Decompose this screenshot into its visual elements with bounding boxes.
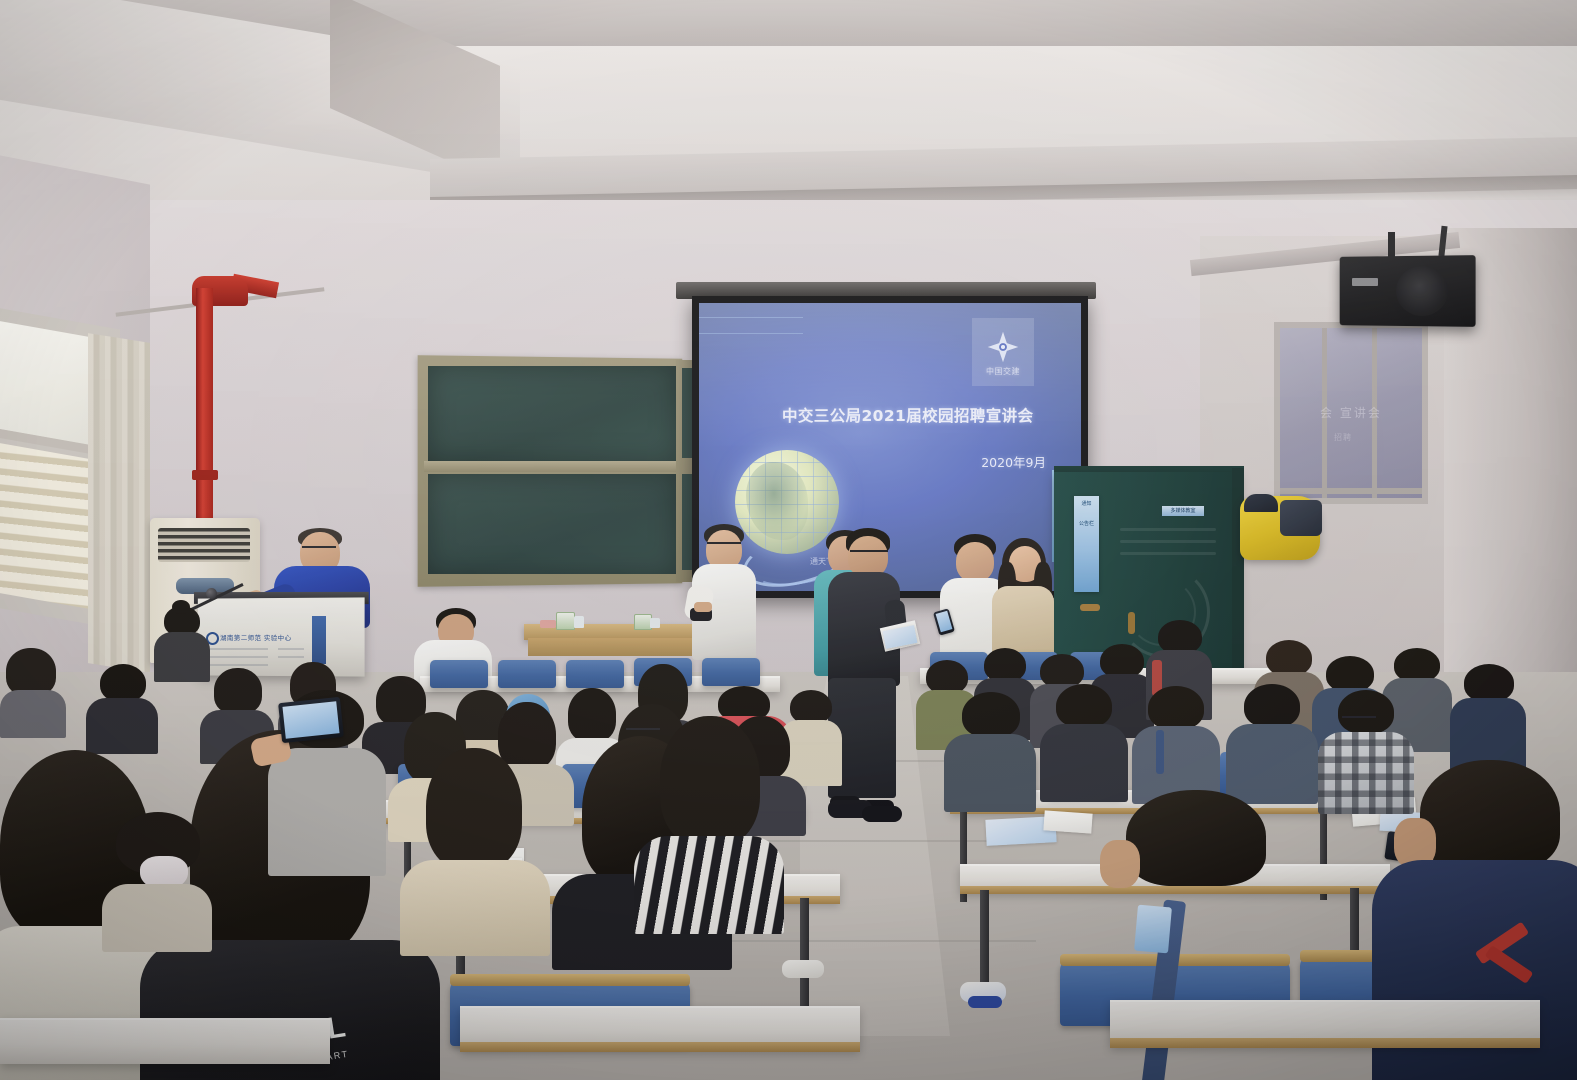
audience-mid-r1 (944, 692, 1036, 808)
door-handle-left[interactable] (1080, 604, 1100, 611)
podium-blue-stripe (312, 616, 326, 664)
audience-back-r9 (1450, 664, 1526, 772)
table-item-white-2 (650, 618, 660, 628)
cccc-compass-star-logo-icon (986, 330, 1020, 364)
podium-line-5 (278, 656, 304, 658)
seat-f1[interactable] (430, 660, 488, 688)
door-poster-line-2: 公告栏 (1076, 520, 1097, 527)
table-item-green-box-1 (556, 612, 575, 630)
speaker-badge (1352, 278, 1378, 286)
desk-foreground-far-left (0, 1018, 330, 1064)
front-table-apron (528, 638, 692, 656)
foreground-person-masked (96, 812, 216, 942)
door-poster[interactable] (1074, 496, 1099, 592)
audience-mid-r4 (1226, 684, 1318, 800)
foreground-person-beige (400, 748, 550, 938)
door-room-sign-text: 多媒体教室 (1162, 506, 1204, 516)
seat-f5[interactable] (702, 658, 760, 686)
classroom-photo-scene: 中国交建 中交三公局2021届校园招聘宣讲会 2020年9月 通天下 会 宣讲会… (0, 0, 1577, 1080)
table-item-red (540, 620, 556, 628)
podium-line-1 (210, 648, 268, 650)
seat-f2[interactable] (498, 660, 556, 688)
raised-phone-screen (282, 701, 339, 738)
table-item-white-1 (574, 616, 584, 628)
podium-line-4 (278, 648, 304, 650)
audience-back-l1 (154, 606, 210, 676)
left-curtain (88, 333, 150, 673)
shoe-aisle-white (782, 960, 824, 978)
desk-edge-foreground-left (460, 1042, 860, 1052)
window-reflection-text-2: 招聘 (1334, 432, 1414, 444)
slide-date: 2020年9月 (956, 452, 1046, 471)
seat-trim-n1 (450, 974, 690, 986)
right-window-sill (1280, 488, 1422, 494)
microphone-icon (206, 588, 217, 599)
window-reflection-text-1: 会 宣讲会 (1320, 404, 1416, 420)
fire-pipe-vertical (196, 288, 213, 523)
blackboard-upper-panel (428, 366, 676, 461)
slide-title: 中交三公局2021届校园招聘宣讲会 (782, 404, 1038, 426)
door-groove-3 (1120, 552, 1216, 555)
staff-white-shirt (690, 524, 760, 664)
dark-bag-hanging (1280, 500, 1322, 536)
door-groove-2 (1120, 540, 1216, 543)
shoe-aisle-2 (862, 806, 902, 822)
shoe-accent-blue (968, 996, 1002, 1008)
seat-f3[interactable] (566, 660, 624, 688)
podium-line-3 (210, 664, 268, 666)
door-poster-line-1: 通知 (1076, 500, 1097, 507)
audience-mid-r3 (1132, 686, 1220, 800)
door-frame-right (1232, 468, 1244, 682)
audience-back-l2 (0, 648, 66, 728)
desk-edge-foreground-right (1110, 1038, 1540, 1048)
cap-hanging (1244, 494, 1278, 512)
speaker-cone (1396, 266, 1448, 316)
podium-institution-text: 湖南第二师范 实验中心 (220, 632, 291, 642)
desk-leg-nl2 (800, 898, 809, 1010)
door-groove-1 (1120, 528, 1216, 531)
door-handle-right[interactable] (1128, 612, 1135, 634)
audience-mid-r2 (1040, 684, 1128, 798)
blackboard-chalk-rail (424, 461, 680, 472)
podium-line-2 (210, 656, 268, 658)
blackboard-lower-panel (428, 474, 676, 574)
slide-logo-text: 中国交建 (977, 366, 1029, 378)
fire-pipe-collar (192, 470, 218, 480)
foreground-person-striped-near (634, 716, 784, 922)
air-conditioner-grill (158, 528, 250, 562)
